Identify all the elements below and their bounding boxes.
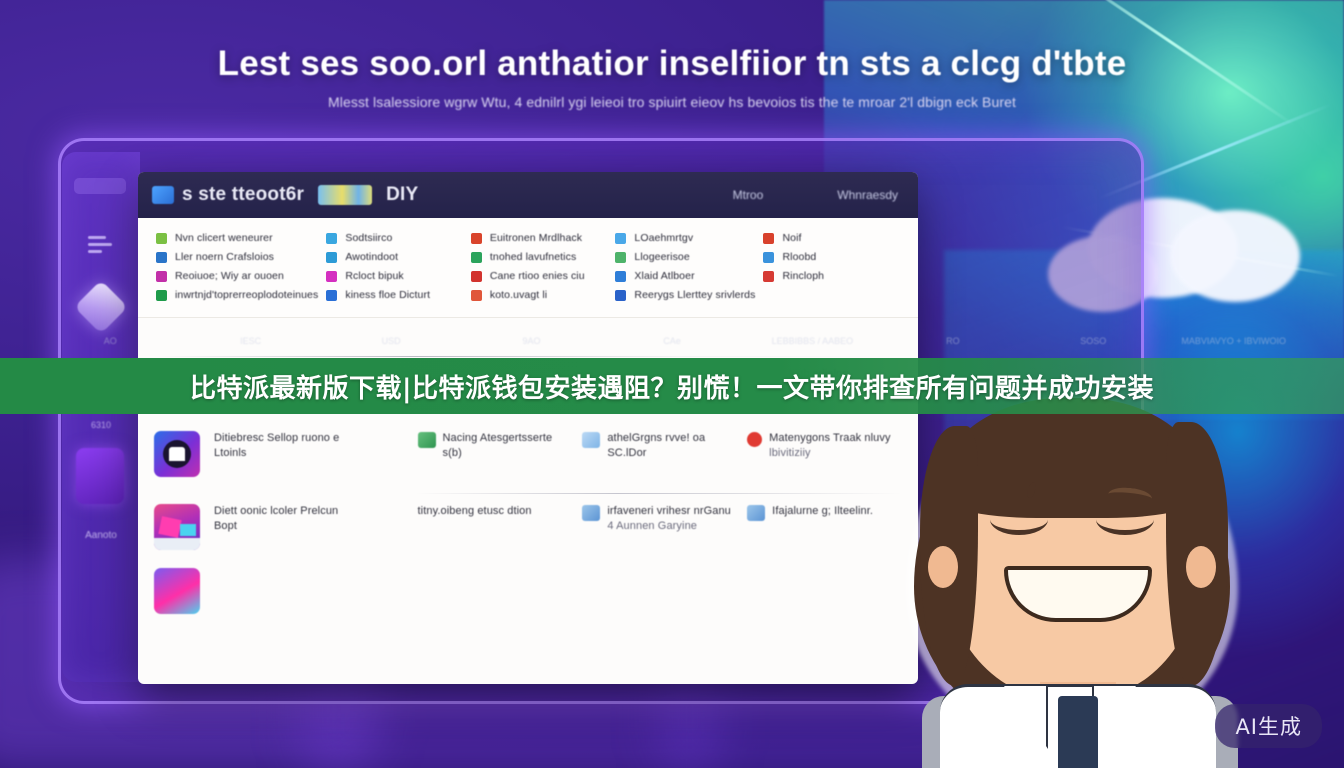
ribbon-item[interactable]: Rcloct bipuk bbox=[326, 270, 463, 282]
apple-icon bbox=[747, 432, 762, 447]
list-item[interactable] bbox=[154, 560, 902, 624]
ribbon-item-label: kiness floe Dicturt bbox=[345, 289, 430, 301]
app-titlebar: s ste tteoot6r DIY Mtroo Whnraesdy bbox=[138, 172, 918, 218]
character-tie bbox=[1058, 696, 1098, 768]
list-cell-title: irfaveneri vrihesr nrGanu bbox=[607, 504, 731, 519]
list-cell: Ifajalurne g; Ilteelinr. bbox=[747, 504, 902, 521]
sidebar-label-top: 6310 bbox=[62, 420, 140, 430]
list-item[interactable]: Diett oonic lcoler PrelcunBopt titny.oib… bbox=[154, 496, 902, 560]
list-cell-title: Ditiebresc Sellop ruono e bbox=[214, 431, 339, 446]
ribbon-item[interactable]: inwrtnjd'toprerreoplodoteinues bbox=[156, 289, 318, 301]
ribbon-item[interactable]: koto.uvagt li bbox=[471, 289, 608, 301]
list-cell-title: Matenygons Traak nluvy bbox=[769, 431, 890, 446]
menu-lines-icon[interactable] bbox=[88, 236, 114, 258]
qr-icon bbox=[582, 432, 600, 448]
list-cell: Matenygons Traak nluvylbivitiziiy bbox=[747, 431, 902, 461]
list-cell-title: titny.oibeng etusc dtion bbox=[418, 504, 532, 519]
ribbon-item-label: Rincloph bbox=[782, 270, 824, 282]
ribbon-item-icon bbox=[156, 271, 167, 282]
app-title-left: s ste tteoot6r bbox=[182, 184, 304, 206]
ribbon-item-icon bbox=[471, 271, 482, 282]
ribbon-item[interactable]: Reoiuoe; Wiy ar ouoen bbox=[156, 270, 318, 282]
ribbon-item-icon bbox=[763, 233, 774, 244]
list-cell-title: Diett oonic lcoler Prelcun bbox=[214, 504, 338, 519]
ribbon-item-icon bbox=[615, 271, 626, 282]
ribbon-item[interactable]: Rloobd bbox=[763, 251, 900, 263]
ribbon-item-icon bbox=[326, 290, 337, 301]
screenshot-root: Lest ses soo.orl anthatior inselfiior tn… bbox=[0, 0, 1344, 768]
list-item[interactable]: Ditiebresc Sellop ruono eLtoinls Nacing … bbox=[154, 423, 902, 487]
color-chip-icon bbox=[318, 185, 372, 205]
list-cell-sub: 4 Aunnen Garyine bbox=[607, 519, 731, 534]
app-thumb-landscape bbox=[154, 504, 200, 550]
ribbon-item[interactable]: Ller noern Crafsloios bbox=[156, 251, 318, 263]
ribbon-item-label: Rloobd bbox=[782, 251, 816, 263]
app-logo-icon bbox=[152, 186, 174, 204]
sidebar-pill bbox=[74, 178, 126, 194]
ribbon-spacer bbox=[138, 318, 918, 340]
list-cell-title: Ifajalurne g; Ilteelinr. bbox=[772, 504, 873, 519]
ribbon-item[interactable]: Nvn clicert weneurer bbox=[156, 232, 318, 244]
character-eye-right bbox=[1096, 504, 1154, 535]
ribbon-item[interactable]: Sodtsiirco bbox=[326, 232, 463, 244]
banner-title: 比特派最新版下载|比特派钱包安装遇阻？别慌！一文带你排查所有问题并成功安装 bbox=[0, 368, 1344, 405]
list-cell-sub: lbivitiziiy bbox=[769, 446, 890, 461]
sidebar-label-bottom: Aanoto bbox=[62, 530, 140, 541]
ribbon-item[interactable]: Euitronen Mrdlhack bbox=[471, 232, 608, 244]
ribbon-item-icon bbox=[156, 290, 167, 301]
cloud-shape bbox=[1170, 210, 1300, 302]
character-eye-left bbox=[990, 504, 1048, 535]
gem-icon[interactable] bbox=[74, 280, 128, 334]
list-cell-sub: Bopt bbox=[214, 519, 338, 534]
ribbon-item-icon bbox=[326, 271, 337, 282]
list-cell-title: athelGrgns rvve! oa bbox=[607, 431, 705, 446]
list-cell: Nacing Atesgertssertes(b) bbox=[418, 431, 573, 461]
ribbon-item-label: Euitronen Mrdlhack bbox=[490, 232, 582, 244]
ribbon-item-label: Noif bbox=[782, 232, 801, 244]
ribbon-item[interactable]: tnohed lavufnetics bbox=[471, 251, 608, 263]
ribbon-column: Nvn clicert weneurer Ller noern Crafsloi… bbox=[156, 232, 318, 301]
list-cell: Diett oonic lcoler PrelcunBopt bbox=[214, 504, 408, 534]
title-banner: 比特派最新版下载|比特派钱包安装遇阻？别慌！一文带你排查所有问题并成功安装 bbox=[0, 358, 1344, 414]
ribbon-item-label: Rcloct bipuk bbox=[345, 270, 403, 282]
ai-generated-badge: AI生成 bbox=[1215, 704, 1322, 748]
menu-right[interactable]: Whnraesdy bbox=[837, 188, 898, 202]
ribbon-item[interactable]: Awotindoot bbox=[326, 251, 463, 263]
ribbon-item-label: Ller noern Crafsloios bbox=[175, 251, 274, 263]
ribbon-column: Euitronen Mrdlhack tnohed lavufnetics Ca… bbox=[471, 232, 608, 301]
plug-icon bbox=[418, 432, 436, 448]
grid-icon bbox=[582, 505, 600, 521]
list-divider bbox=[154, 356, 902, 357]
ribbon-item-icon bbox=[471, 290, 482, 301]
ribbon-item-label: Reoiuoe; Wiy ar ouoen bbox=[175, 270, 284, 282]
app-window[interactable]: s ste tteoot6r DIY Mtroo Whnraesdy Nvn c… bbox=[138, 172, 918, 684]
ribbon-item-icon bbox=[471, 233, 482, 244]
ribbon-menu[interactable]: Nvn clicert weneurer Ller noern Crafsloi… bbox=[138, 218, 918, 318]
ribbon-item-icon bbox=[326, 233, 337, 244]
menu-center[interactable]: Mtroo bbox=[733, 188, 764, 202]
list-cell-sub: Ltoinls bbox=[214, 446, 339, 461]
ribbon-item[interactable]: Cane rtioo enies ciu bbox=[471, 270, 608, 282]
ribbon-item[interactable]: LOaehmrtgv bbox=[615, 232, 755, 244]
ribbon-item-label: LOaehmrtgv bbox=[634, 232, 693, 244]
ribbon-item-label: inwrtnjd'toprerreoplodoteinues bbox=[175, 289, 318, 301]
ribbon-item-icon bbox=[156, 233, 167, 244]
ribbon-item-label: Xlaid Atlboer bbox=[634, 270, 694, 282]
ribbon-item[interactable]: Llogeerisoe bbox=[615, 251, 755, 263]
ribbon-item-icon bbox=[471, 252, 482, 263]
ribbon-item-label: tnohed lavufnetics bbox=[490, 251, 576, 263]
ribbon-item-label: Nvn clicert weneurer bbox=[175, 232, 273, 244]
ribbon-item[interactable]: Noif bbox=[763, 232, 900, 244]
app-sidebar[interactable]: 6310 Aanoto bbox=[62, 152, 140, 682]
list-cell: titny.oibeng etusc dtion bbox=[418, 504, 573, 519]
ribbon-item-label: Sodtsiirco bbox=[345, 232, 392, 244]
ribbon-item-label: Reerygs Llerttey srivlerds bbox=[634, 289, 755, 301]
ribbon-item-icon bbox=[156, 252, 167, 263]
list-divider bbox=[154, 493, 902, 494]
app-title-right: DIY bbox=[386, 184, 418, 206]
list-cell: irfaveneri vrihesr nrGanu4 Aunnen Garyin… bbox=[582, 504, 737, 534]
app-thumb-pink bbox=[154, 568, 200, 614]
list-cell: Ditiebresc Sellop ruono eLtoinls bbox=[214, 431, 408, 461]
app-tile-icon[interactable] bbox=[76, 448, 124, 504]
ribbon-column: Noif Rloobd Rincloph bbox=[763, 232, 900, 301]
ribbon-column: Sodtsiirco Awotindoot Rcloct bipuk kines… bbox=[326, 232, 463, 301]
ribbon-item-label: Awotindoot bbox=[345, 251, 398, 263]
ribbon-item-icon bbox=[326, 252, 337, 263]
ribbon-item[interactable]: Xlaid Atlboer bbox=[615, 270, 755, 282]
list-cell-sub: SC.lDor bbox=[607, 446, 705, 461]
ribbon-item-label: koto.uvagt li bbox=[490, 289, 547, 301]
ribbon-item[interactable]: Rincloph bbox=[763, 270, 900, 282]
list-cell: athelGrgns rvve! oaSC.lDor bbox=[582, 431, 737, 461]
ribbon-item[interactable]: kiness floe Dicturt bbox=[326, 289, 463, 301]
ribbon-item-label: Llogeerisoe bbox=[634, 251, 689, 263]
ribbon-item-label: Cane rtioo enies ciu bbox=[490, 270, 585, 282]
ribbon-item-icon bbox=[615, 233, 626, 244]
app-thumb-cloud-2 bbox=[154, 431, 200, 477]
grid-icon bbox=[747, 505, 765, 521]
ribbon-item-icon bbox=[763, 271, 774, 282]
ribbon-item-icon bbox=[615, 290, 626, 301]
list-cell-sub: s(b) bbox=[443, 446, 553, 461]
ribbon-item-icon bbox=[615, 252, 626, 263]
ribbon-item-icon bbox=[763, 252, 774, 263]
ribbon-item[interactable]: Reerygs Llerttey srivlerds bbox=[615, 289, 755, 301]
list-cell-title: Nacing Atesgertsserte bbox=[443, 431, 553, 446]
cartoon-character bbox=[900, 396, 1260, 768]
ribbon-column: LOaehmrtgv Llogeerisoe Xlaid Atlboer Ree… bbox=[615, 232, 755, 301]
